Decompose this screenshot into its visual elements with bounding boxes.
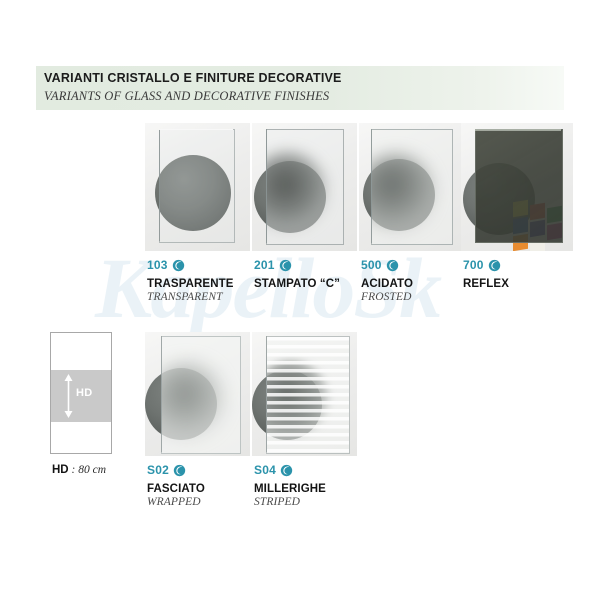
blurred-sphere bbox=[371, 154, 434, 230]
swirl-circle-icon bbox=[280, 464, 293, 477]
glass-pane-satin bbox=[161, 336, 241, 454]
sample-name-en: FROSTED bbox=[361, 291, 481, 303]
sample-name: MILLERIGHE bbox=[254, 483, 374, 495]
glass-pane-textured bbox=[266, 129, 344, 245]
page-subtitle: VARIANTS OF GLASS AND DECORATIVE FINISHE… bbox=[44, 89, 329, 104]
stripe-overlay bbox=[267, 337, 349, 453]
glass-pane-clear bbox=[159, 129, 235, 243]
page-title: VARIANTI CRISTALLO E FINITURE DECORATIVE bbox=[44, 71, 342, 85]
sample-name: STAMPATO “C” bbox=[254, 278, 374, 290]
sample-code: S04 bbox=[254, 463, 276, 477]
sample-name-en: TRANSPARENT bbox=[147, 291, 267, 303]
sample-thumbnail-S04 bbox=[252, 332, 357, 456]
glass-pane-highlight bbox=[475, 129, 561, 131]
sample-caption-103: 103 TRASPARENTE TRANSPARENT bbox=[147, 257, 267, 303]
sample-caption-S02: S02 FASCIATO WRAPPED bbox=[147, 462, 267, 508]
sample-code-row: 103 bbox=[147, 257, 267, 273]
sample-code: 103 bbox=[147, 258, 168, 272]
sample-code: 500 bbox=[361, 258, 382, 272]
hd-caption: HD : 80 cm bbox=[52, 464, 106, 476]
sample-name: REFLEX bbox=[463, 278, 583, 290]
sample-name-en: STRIPED bbox=[254, 496, 374, 508]
sample-code: S02 bbox=[147, 463, 169, 477]
sample-code-row: 201 bbox=[254, 257, 374, 273]
glass-pane-highlight bbox=[159, 129, 233, 130]
sample-caption-201: 201 STAMPATO “C” bbox=[254, 257, 374, 291]
glass-pane-edge bbox=[266, 336, 267, 452]
glass-pane-edge bbox=[371, 129, 372, 243]
sample-thumbnail-201 bbox=[252, 123, 357, 251]
sample-thumbnail-103 bbox=[145, 123, 250, 251]
sample-code: 201 bbox=[254, 258, 275, 272]
blurred-sphere bbox=[161, 363, 224, 437]
blurred-sphere bbox=[266, 152, 327, 230]
glass-pane-edge bbox=[159, 129, 160, 241]
sample-thumbnail-500 bbox=[359, 123, 464, 251]
section-header-band: VARIANTI CRISTALLO E FINITURE DECORATIVE… bbox=[36, 66, 564, 110]
glass-pane-edge bbox=[161, 336, 162, 452]
hd-band-label: HD bbox=[76, 387, 93, 399]
swirl-circle-icon bbox=[173, 464, 186, 477]
sample-code-row: S04 bbox=[254, 462, 374, 478]
sample-code: 700 bbox=[463, 258, 484, 272]
swirl-circle-icon bbox=[279, 259, 292, 272]
sample-code-row: 700 bbox=[463, 257, 583, 273]
hd-caption-value: 80 cm bbox=[78, 464, 106, 476]
sample-caption-S04: S04 MILLERIGHE STRIPED bbox=[254, 462, 374, 508]
glass-pane-edge bbox=[266, 129, 267, 243]
sample-caption-700: 700 REFLEX bbox=[463, 257, 583, 291]
swirl-circle-icon bbox=[172, 259, 185, 272]
sample-thumbnail-S02 bbox=[145, 332, 250, 456]
hd-double-arrow-icon bbox=[63, 374, 74, 418]
sample-code-row: S02 bbox=[147, 462, 267, 478]
hd-caption-separator: : bbox=[69, 464, 79, 476]
glass-pane-striped bbox=[266, 336, 350, 454]
sample-thumbnail-700 bbox=[461, 123, 573, 251]
glass-pane-frosted bbox=[371, 129, 453, 245]
hd-caption-label: HD bbox=[52, 464, 69, 476]
swirl-circle-icon bbox=[386, 259, 399, 272]
sample-name: TRASPARENTE bbox=[147, 278, 267, 290]
glass-pane-reflex bbox=[475, 129, 563, 243]
swirl-circle-icon bbox=[488, 259, 501, 272]
sample-name-en: WRAPPED bbox=[147, 496, 267, 508]
sample-name: FASCIATO bbox=[147, 483, 267, 495]
